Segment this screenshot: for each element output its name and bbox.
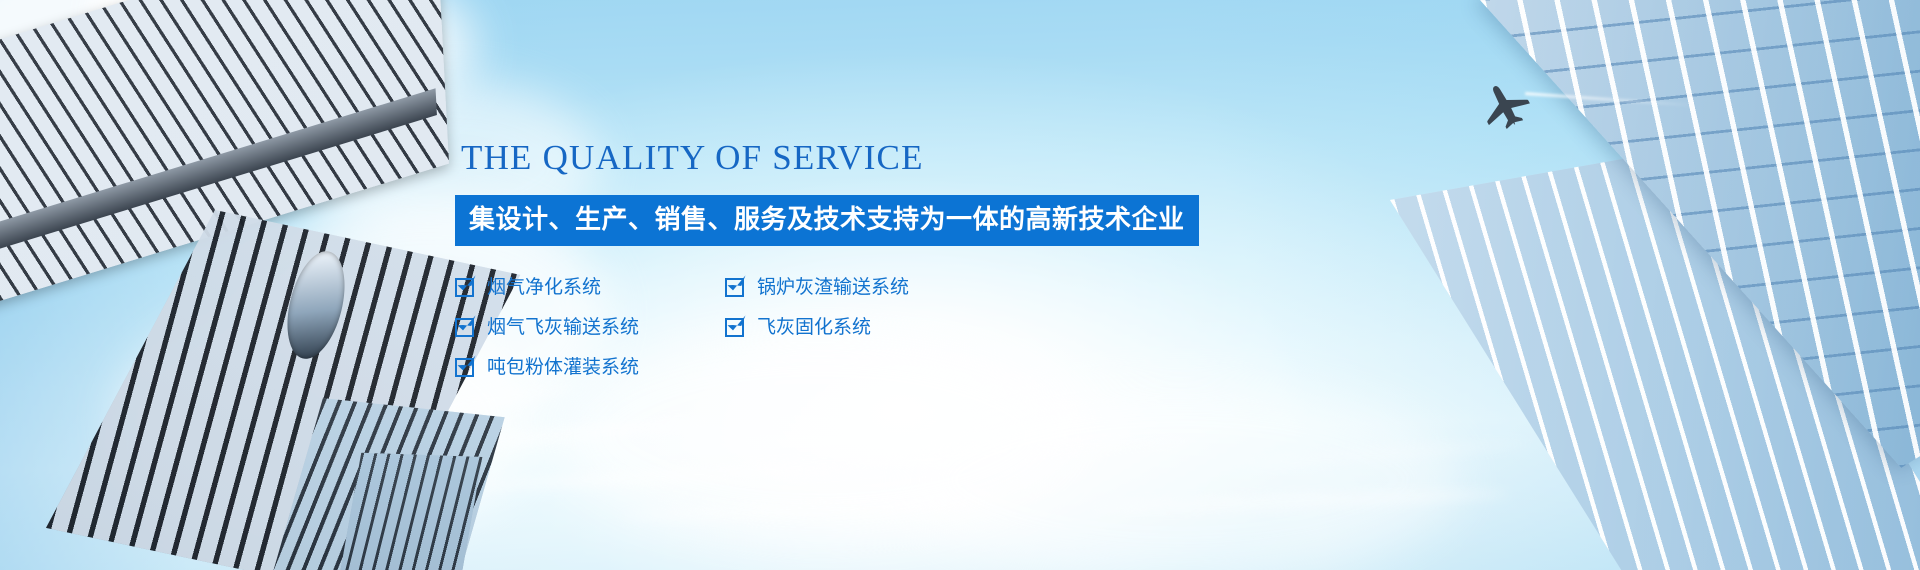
banner-content: THE QUALITY OF SERVICE 集设计、生产、销售、服务及技术支持… (455, 140, 1455, 377)
list-item[interactable]: 飞灰固化系统 (725, 318, 1155, 337)
hero-banner: THE QUALITY OF SERVICE 集设计、生产、销售、服务及技术支持… (0, 0, 1920, 570)
list-item[interactable]: 锅炉灰渣输送系统 (725, 278, 1155, 297)
checkbox-checked-icon (725, 318, 744, 337)
airplane-icon (1478, 78, 1534, 134)
feature-list: 烟气净化系统 锅炉灰渣输送系统 烟气飞灰输送系统 (455, 278, 1155, 377)
list-item-spacer (725, 358, 1155, 377)
list-item-label: 烟气净化系统 (487, 278, 601, 297)
cloud-icon (900, 380, 1460, 570)
list-item[interactable]: 烟气飞灰输送系统 (455, 318, 725, 337)
list-item-label: 吨包粉体灌装系统 (487, 358, 639, 377)
checkbox-checked-icon (725, 278, 744, 297)
list-item[interactable]: 吨包粉体灌装系统 (455, 358, 725, 377)
checkbox-checked-icon (455, 278, 474, 297)
list-item-label: 烟气飞灰输送系统 (487, 318, 639, 337)
list-item-label: 锅炉灰渣输送系统 (757, 278, 909, 297)
tagline-ribbon: 集设计、生产、销售、服务及技术支持为一体的高新技术企业 (455, 195, 1199, 246)
checkbox-checked-icon (455, 318, 474, 337)
page-title: THE QUALITY OF SERVICE (461, 140, 1455, 175)
list-item[interactable]: 烟气净化系统 (455, 278, 725, 297)
list-item-label: 飞灰固化系统 (757, 318, 871, 337)
checkbox-checked-icon (455, 358, 474, 377)
